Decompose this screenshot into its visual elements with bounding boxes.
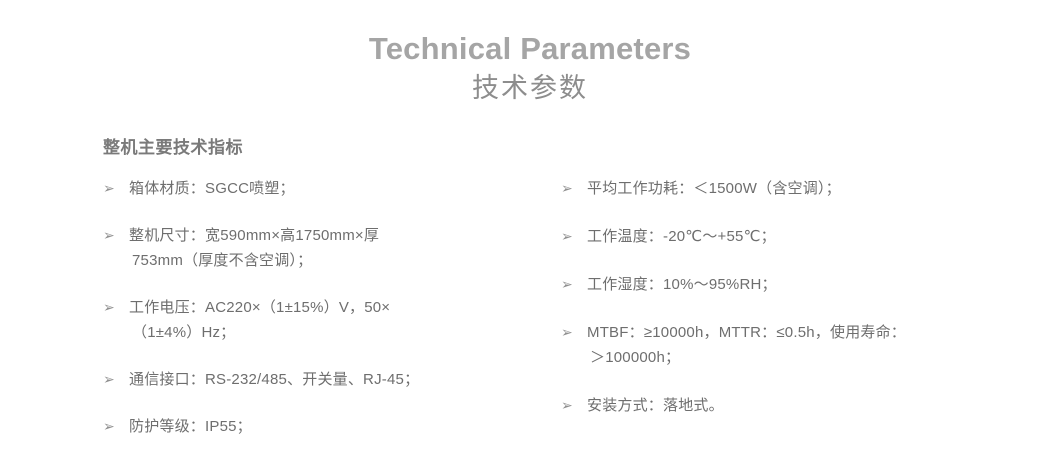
spec-bullet: ➢整机尺寸：宽590mm×高1750mm×厚753mm（厚度不含空调）；	[103, 223, 503, 273]
spec-bullet-line: ＞100000h；	[587, 345, 1001, 370]
spec-bullet-text: 安装方式：落地式。	[587, 393, 1001, 418]
arrow-bullet-icon: ➢	[561, 224, 579, 249]
section-heading: 整机主要技术指标	[103, 136, 243, 160]
spec-bullet-line: 防护等级：IP55；	[129, 418, 252, 435]
spec-bullet-text: 工作电压：AC220×（1±15%）V，50×（1±4%）Hz；	[129, 295, 503, 345]
arrow-bullet-icon: ➢	[103, 223, 121, 248]
arrow-bullet-icon: ➢	[103, 295, 121, 320]
specification-column-left: ➢箱体材质：SGCC喷塑；➢整机尺寸：宽590mm×高1750mm×厚753mm…	[103, 176, 503, 439]
arrow-bullet-icon: ➢	[561, 176, 579, 201]
spec-bullet: ➢工作湿度：10%～95%RH；	[561, 272, 1001, 297]
spec-bullet: ➢安装方式：落地式。	[561, 393, 1001, 418]
arrow-bullet-icon: ➢	[561, 393, 579, 418]
specification-columns: ➢箱体材质：SGCC喷塑；➢整机尺寸：宽590mm×高1750mm×厚753mm…	[0, 176, 1060, 450]
arrow-bullet-icon: ➢	[561, 272, 579, 297]
spec-bullet-line: （1±4%）Hz；	[129, 320, 503, 345]
spec-bullet: ➢箱体材质：SGCC喷塑；	[103, 176, 503, 201]
spec-bullet-text: MTBF：≥10000h，MTTR：≤0.5h，使用寿命：＞100000h；	[587, 320, 1001, 370]
spec-bullet-line: MTBF：≥10000h，MTTR：≤0.5h，使用寿命：	[587, 324, 906, 341]
spec-bullet-line: 通信接口：RS-232/485、开关量、RJ-45；	[129, 371, 419, 388]
arrow-bullet-icon: ➢	[103, 414, 121, 439]
specification-column-right: ➢平均工作功耗：＜1500W（含空调）；➢工作温度：-20℃～+55℃；➢工作湿…	[561, 176, 1001, 418]
spec-bullet: ➢通信接口：RS-232/485、开关量、RJ-45；	[103, 367, 503, 392]
spec-bullet: ➢平均工作功耗：＜1500W（含空调）；	[561, 176, 1001, 201]
spec-bullet: ➢工作温度：-20℃～+55℃；	[561, 224, 1001, 249]
spec-bullet-text: 防护等级：IP55；	[129, 414, 503, 439]
spec-bullet-line: 753mm（厚度不含空调）；	[129, 248, 503, 273]
page-header: Technical Parameters 技术参数	[0, 30, 1060, 106]
spec-bullet-line: 整机尺寸：宽590mm×高1750mm×厚	[129, 227, 379, 244]
technical-parameters-page: Technical Parameters 技术参数 整机主要技术指标 ➢箱体材质…	[0, 0, 1060, 450]
spec-bullet-text: 工作湿度：10%～95%RH；	[587, 272, 1001, 297]
arrow-bullet-icon: ➢	[103, 176, 121, 201]
spec-bullet-line: 平均工作功耗：＜1500W（含空调）；	[587, 180, 841, 197]
spec-bullet-text: 通信接口：RS-232/485、开关量、RJ-45；	[129, 367, 503, 392]
spec-bullet-line: 安装方式：落地式。	[587, 397, 724, 414]
spec-bullet: ➢防护等级：IP55；	[103, 414, 503, 439]
spec-bullet-line: 箱体材质：SGCC喷塑；	[129, 180, 295, 197]
spec-bullet-line: 工作电压：AC220×（1±15%）V，50×	[129, 299, 390, 316]
spec-bullet-text: 箱体材质：SGCC喷塑；	[129, 176, 503, 201]
spec-bullet-line: 工作温度：-20℃～+55℃；	[587, 228, 776, 245]
arrow-bullet-icon: ➢	[103, 367, 121, 392]
page-title-english: Technical Parameters	[0, 30, 1060, 68]
arrow-bullet-icon: ➢	[561, 320, 579, 345]
spec-bullet-text: 平均工作功耗：＜1500W（含空调）；	[587, 176, 1001, 201]
spec-bullet: ➢工作电压：AC220×（1±15%）V，50×（1±4%）Hz；	[103, 295, 503, 345]
spec-bullet: ➢MTBF：≥10000h，MTTR：≤0.5h，使用寿命：＞100000h；	[561, 320, 1001, 370]
spec-bullet-text: 工作温度：-20℃～+55℃；	[587, 224, 1001, 249]
page-title-chinese: 技术参数	[0, 70, 1060, 106]
spec-bullet-text: 整机尺寸：宽590mm×高1750mm×厚753mm（厚度不含空调）；	[129, 223, 503, 273]
spec-bullet-line: 工作湿度：10%～95%RH；	[587, 276, 777, 293]
